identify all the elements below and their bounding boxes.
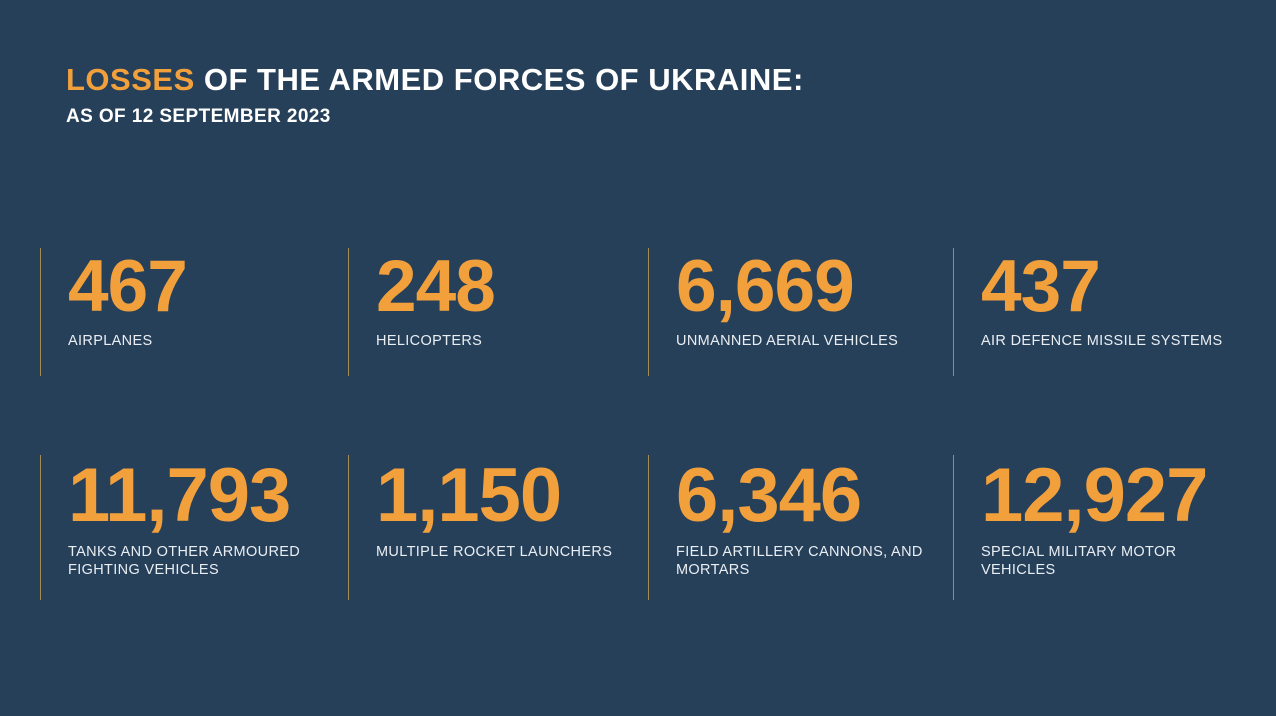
divider-line bbox=[348, 248, 349, 376]
stat-value: 437 bbox=[981, 248, 1245, 326]
divider-line bbox=[953, 248, 954, 376]
divider-line bbox=[648, 455, 649, 600]
stat-cell: 248 HELICOPTERS bbox=[348, 248, 648, 376]
divider-line bbox=[953, 455, 954, 600]
stat-value: 467 bbox=[68, 248, 348, 326]
stat-label: AIR DEFENCE MISSILE SYSTEMS bbox=[981, 332, 1245, 350]
stat-label: SPECIAL MILITARY MOTOR VEHICLES bbox=[981, 543, 1245, 579]
stat-value: 6,669 bbox=[676, 248, 953, 326]
divider-line bbox=[40, 455, 41, 600]
stat-value: 12,927 bbox=[981, 455, 1245, 537]
stat-label: MULTIPLE ROCKET LAUNCHERS bbox=[376, 543, 646, 561]
page-title: LOSSES OF THE ARMED FORCES OF UKRAINE: bbox=[66, 62, 1166, 98]
stats-row: 467 AIRPLANES 248 HELICOPTERS 6,669 UNMA… bbox=[40, 248, 1245, 376]
stat-label: FIELD ARTILLERY CANNONS, AND MORTARS bbox=[676, 543, 946, 579]
stat-cell: 437 AIR DEFENCE MISSILE SYSTEMS bbox=[953, 248, 1245, 376]
stats-row: 11,793 TANKS AND OTHER ARMOURED FIGHTING… bbox=[40, 455, 1245, 600]
stat-value: 6,346 bbox=[676, 455, 953, 537]
infographic-slide: LOSSES OF THE ARMED FORCES OF UKRAINE: A… bbox=[0, 0, 1276, 716]
stat-cell: 1,150 MULTIPLE ROCKET LAUNCHERS bbox=[348, 455, 648, 600]
stat-cell: 12,927 SPECIAL MILITARY MOTOR VEHICLES bbox=[953, 455, 1245, 600]
stat-cell: 467 AIRPLANES bbox=[40, 248, 348, 376]
title-highlight: LOSSES bbox=[66, 62, 195, 97]
stat-label: TANKS AND OTHER ARMOURED FIGHTING VEHICL… bbox=[68, 543, 338, 579]
stat-label: AIRPLANES bbox=[68, 332, 338, 350]
stat-label: UNMANNED AERIAL VEHICLES bbox=[676, 332, 946, 350]
stats-grid: 467 AIRPLANES 248 HELICOPTERS 6,669 UNMA… bbox=[40, 248, 1245, 600]
divider-line bbox=[40, 248, 41, 376]
stat-label: HELICOPTERS bbox=[376, 332, 646, 350]
title-rest: OF THE ARMED FORCES OF UKRAINE: bbox=[195, 62, 804, 97]
stat-value: 11,793 bbox=[68, 455, 348, 537]
header: LOSSES OF THE ARMED FORCES OF UKRAINE: A… bbox=[66, 62, 1166, 128]
stat-value: 1,150 bbox=[376, 455, 648, 537]
stat-cell: 6,346 FIELD ARTILLERY CANNONS, AND MORTA… bbox=[648, 455, 953, 600]
divider-line bbox=[348, 455, 349, 600]
divider-line bbox=[648, 248, 649, 376]
stat-cell: 11,793 TANKS AND OTHER ARMOURED FIGHTING… bbox=[40, 455, 348, 600]
stat-value: 248 bbox=[376, 248, 648, 326]
page-subtitle: AS OF 12 SEPTEMBER 2023 bbox=[66, 106, 1166, 128]
stat-cell: 6,669 UNMANNED AERIAL VEHICLES bbox=[648, 248, 953, 376]
